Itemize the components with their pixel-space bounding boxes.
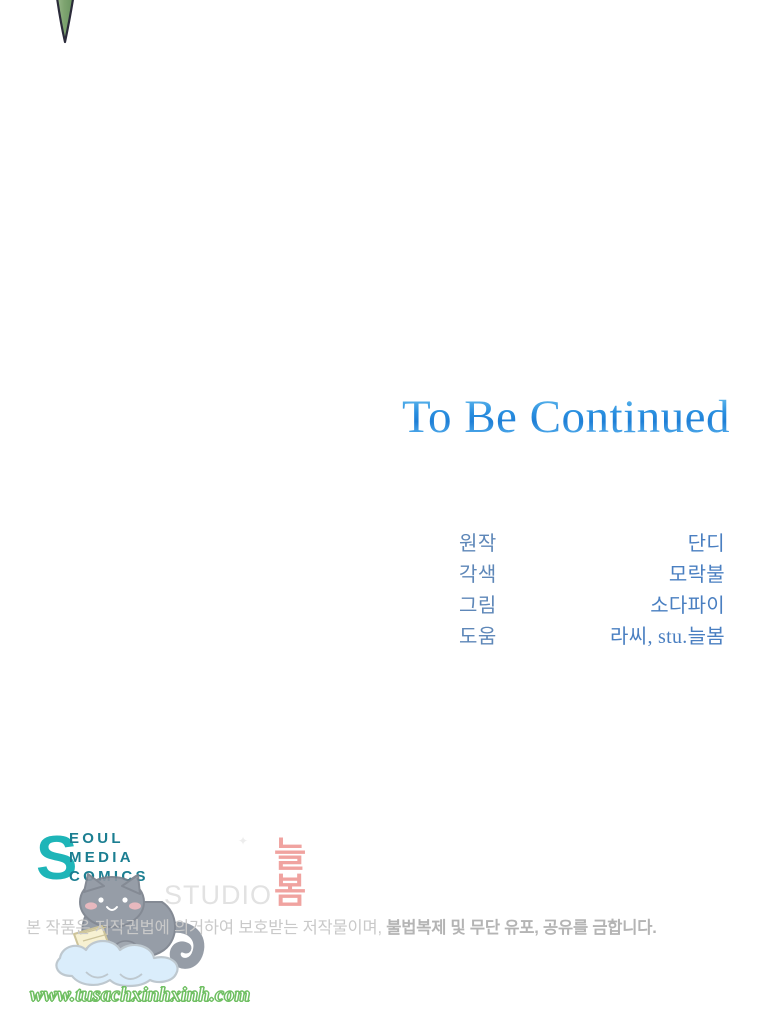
credit-label: 그림 xyxy=(440,589,497,618)
credit-row: 각색 모락불 xyxy=(440,558,725,589)
leaf-decoration-icon xyxy=(48,0,82,44)
site-url-watermark: www.tusachxinhxinh.com xyxy=(30,984,250,1007)
neulbom-text: 늘봄 xyxy=(274,838,336,910)
copyright-notice: 본 작품은 저작권법에 의거하여 보호받는 저작물이며, 불법복제 및 무단 유… xyxy=(26,916,726,940)
credit-value: 소다파이 xyxy=(650,589,725,618)
to-be-continued-text: To Be Continued xyxy=(402,388,730,446)
seoul-media-line-1: EOUL xyxy=(69,829,149,848)
credit-row: 원작 단디 xyxy=(440,527,725,558)
webtoon-end-page: { "page": { "background_color": "#ffffff… xyxy=(0,0,760,1023)
credit-value: 라씨, stu.늘봄 xyxy=(610,620,725,649)
credit-label: 도움 xyxy=(440,620,497,649)
credit-value: 단디 xyxy=(688,527,725,556)
credits-list: 원작 단디 각색 모락불 그림 소다파이 도움 라씨, stu.늘봄 xyxy=(440,527,725,651)
copyright-bold-text: 불법복제 및 무단 유포, 공유를 금합니다. xyxy=(386,919,656,937)
credit-row: 도움 라씨, stu.늘봄 xyxy=(440,620,725,651)
credit-label: 각색 xyxy=(440,558,497,587)
sparkle-icon: ✦ xyxy=(238,834,248,848)
seoul-media-line-2: MEDIA xyxy=(69,848,149,867)
copyright-normal-text: 본 작품은 저작권법에 의거하여 보호받는 저작물이며, xyxy=(26,919,386,937)
credit-label: 원작 xyxy=(440,527,497,556)
credit-row: 그림 소다파이 xyxy=(440,589,725,620)
to-be-continued-banner: To Be Continued xyxy=(300,388,730,450)
credit-value: 모락불 xyxy=(669,558,725,587)
